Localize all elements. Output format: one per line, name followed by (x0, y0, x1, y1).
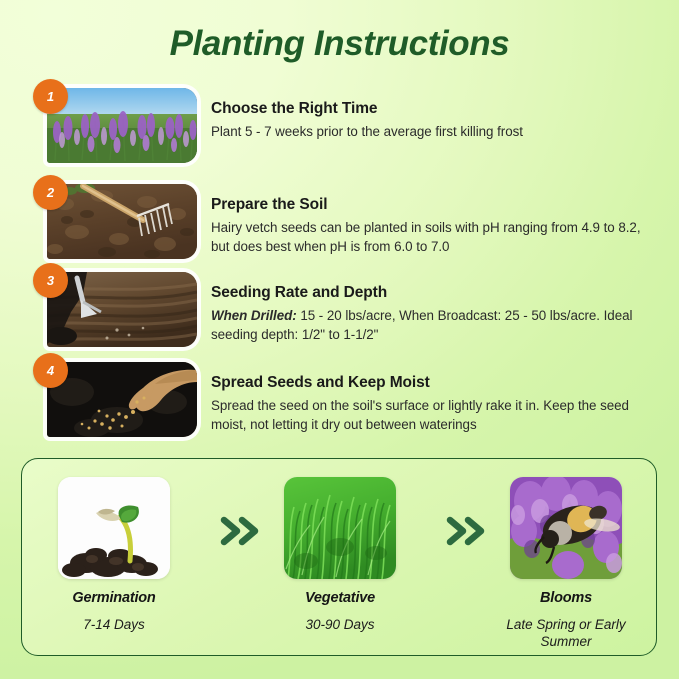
timeline-stage-blooms: Blooms Late Spring or Early Summer (490, 477, 642, 651)
rake-in-brown-soil-photo (47, 184, 197, 259)
step-4-title: Spread Seeds and Keep Moist (211, 374, 643, 393)
double-chevron-right-icon-2 (444, 514, 488, 548)
step-4-text: Spread Seeds and Keep Moist Spread the s… (211, 374, 643, 434)
step-item-3: 3 Seeding Rate and Depth When Drilled: 1… (33, 263, 645, 353)
stage-blooms-duration: Late Spring or Early Summer (490, 616, 642, 651)
step-1-text: Choose the Right Time Plant 5 - 7 weeks … (211, 100, 643, 141)
stage-vegetative-duration: 30-90 Days (264, 616, 416, 633)
step-3-text: Seeding Rate and Depth When Drilled: 15 … (211, 284, 643, 344)
step-2-text: Prepare the Soil Hairy vetch seeds can b… (211, 196, 643, 256)
step-3-title: Seeding Rate and Depth (211, 284, 643, 303)
hairy-vetch-purple-flowers-photo (47, 88, 197, 163)
hand-broadcasting-seeds-photo (47, 362, 197, 437)
step-3-body: When Drilled: 15 - 20 lbs/acre, When Bro… (211, 306, 643, 344)
seed-drill-furrow-soil-photo (47, 272, 197, 347)
step-1-title: Choose the Right Time (211, 100, 643, 119)
bumblebee-on-vetch-bloom-photo (510, 477, 622, 579)
step-4-body: Spread the seed on the soil's surface or… (211, 396, 643, 434)
timeline-stage-germination: Germination 7-14 Days (38, 477, 190, 633)
step-4-body-text: Spread the seed on the soil's surface or… (211, 398, 629, 432)
stage-vegetative-name: Vegetative (264, 590, 416, 606)
step-item-4: 4 Spread Seeds and Keep Moist Spread the… (33, 353, 645, 449)
step-1-body-text: Plant 5 - 7 weeks prior to the average f… (211, 124, 523, 139)
step-item-1: 1 Choose the Right Time Plant 5 - 7 week… (33, 79, 645, 175)
step-3-body-lead: When Drilled: (211, 308, 297, 323)
timeline-stage-vegetative: Vegetative 30-90 Days (264, 477, 416, 633)
stage-blooms-name: Blooms (490, 590, 642, 606)
step-2-body-text: Hairy vetch seeds can be planted in soil… (211, 220, 641, 254)
green-vetch-foliage-photo (284, 477, 396, 579)
sprouting-seedling-photo (58, 477, 170, 579)
growth-timeline-panel: Germination 7-14 Days (21, 458, 657, 656)
step-3-number-badge: 3 (33, 263, 68, 298)
page-title: Planting Instructions (0, 24, 679, 64)
stage-germination-duration: 7-14 Days (38, 616, 190, 633)
step-2-title: Prepare the Soil (211, 196, 643, 215)
step-1-body: Plant 5 - 7 weeks prior to the average f… (211, 122, 643, 141)
step-1-number-badge: 1 (33, 79, 68, 114)
step-2-number-badge: 2 (33, 175, 68, 210)
step-item-2: 2 Prepare the Soil Hairy vetch seeds can… (33, 175, 645, 263)
double-chevron-right-icon (218, 514, 262, 548)
infographic-page: Planting Instructions (0, 0, 679, 679)
step-4-number-badge: 4 (33, 353, 68, 388)
step-2-body: Hairy vetch seeds can be planted in soil… (211, 218, 643, 256)
stage-germination-name: Germination (38, 590, 190, 606)
